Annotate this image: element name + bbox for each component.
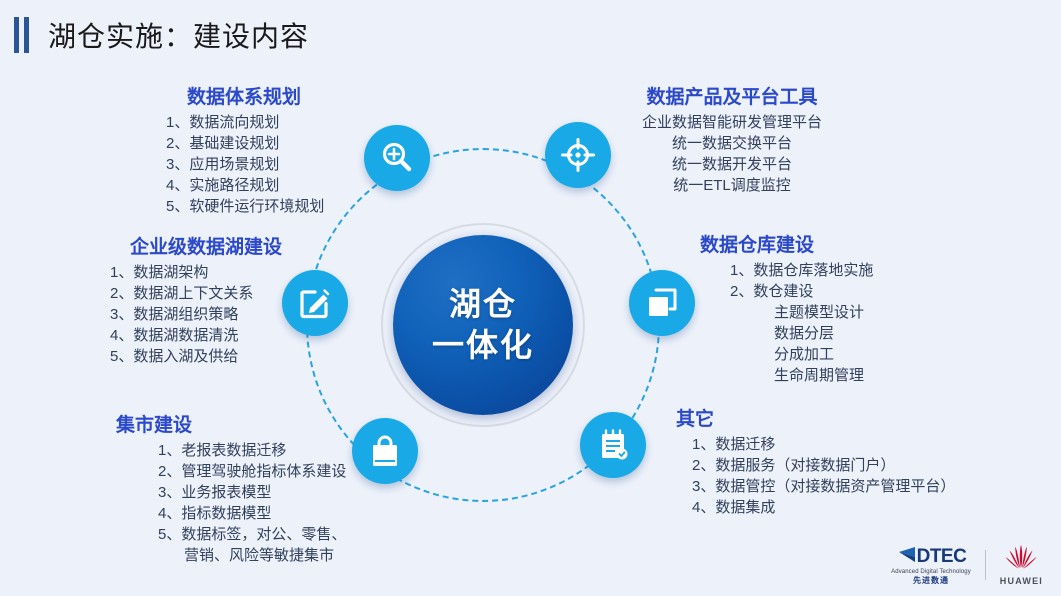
copy-duplicate-icon (645, 286, 679, 320)
list-item: 数据分层 (730, 323, 990, 344)
block-list: 1、数据迁移 2、数据服务（对接数据门户） 3、数据管控（对接数据资产管理平台）… (692, 434, 996, 518)
sub-item: 数据分层 (774, 323, 990, 344)
list-item-line2: 营销、风险等敏捷集市 (184, 545, 396, 566)
list-item: 4、实施路径规划 (166, 175, 388, 196)
list-item: 分成加工 (730, 344, 990, 365)
list-item: 5、数据入湖及供给 (110, 346, 346, 367)
core-label-line2: 一体化 (432, 325, 534, 366)
list-item: 企业数据智能研发管理平台 (600, 112, 864, 133)
list-item: 3、数据湖组织策略 (110, 304, 346, 325)
block-list: 1、数据湖架构 2、数据湖上下文关系 3、数据湖组织策略 4、数据湖数据清洗 5… (110, 262, 346, 367)
title-accent-bar-icon (14, 17, 30, 53)
list-item: 3、业务报表模型 (158, 482, 396, 503)
dtec-name: DTEC (917, 547, 967, 566)
block-list: 1、数据流向规划 2、基础建设规划 3、应用场景规划 4、实施路径规划 5、软硬… (166, 112, 388, 217)
list-item-line1: 5、数据标签，对公、零售、 (158, 526, 346, 543)
list-item: 1、数据仓库落地实施 (730, 260, 990, 281)
list-item: 2、基础建设规划 (166, 133, 388, 154)
list-item: 2、数据服务（对接数据门户） (692, 455, 996, 476)
sub-item: 生命周期管理 (774, 365, 990, 386)
list-item: 5、数据标签，对公、零售、 营销、风险等敏捷集市 (158, 524, 396, 566)
dtec-tagline: Advanced Digital Technology (891, 569, 971, 575)
list-item: 5、软硬件运行环境规划 (166, 196, 388, 217)
list-item: 2、管理驾驶舱指标体系建设 (158, 461, 396, 482)
node-bottom-right[interactable] (580, 412, 646, 478)
list-item: 主题模型设计 (730, 302, 990, 323)
block-heading: 企业级数据湖建设 (76, 232, 346, 259)
core-label-line1: 湖仓 (449, 284, 517, 325)
block-heading: 数据体系规划 (118, 82, 388, 109)
checklist-notepad-icon (596, 428, 630, 462)
list-item: 4、数据集成 (692, 497, 996, 518)
slide-canvas: 湖仓实施：建设内容 湖仓 一体化 (0, 0, 1061, 596)
block-heading: 其它 (676, 404, 996, 431)
block-enterprise-data-lake: 企业级数据湖建设 1、数据湖架构 2、数据湖上下文关系 3、数据湖组织策略 4、… (76, 232, 346, 367)
list-item: 1、老报表数据迁移 (158, 440, 396, 461)
list-item: 1、数据湖架构 (110, 262, 346, 283)
block-list: 1、老报表数据迁移 2、管理驾驶舱指标体系建设 3、业务报表模型 4、指标数据模… (158, 440, 396, 566)
huawei-logo: HUAWEI (1000, 544, 1043, 586)
crosshair-target-icon (560, 137, 596, 173)
list-item: 4、数据湖数据清洗 (110, 325, 346, 346)
list-item: 2、数据湖上下文关系 (110, 283, 346, 304)
footer-logos: DTEC Advanced Digital Technology 先进数通 (891, 544, 1043, 586)
sub-item: 分成加工 (774, 344, 990, 365)
block-data-mart: 集市建设 1、老报表数据迁移 2、管理驾驶舱指标体系建设 3、业务报表模型 4、… (116, 410, 396, 566)
list-item: 统一数据开发平台 (600, 154, 864, 175)
list-item: 3、数据管控（对接数据资产管理平台） (692, 476, 996, 497)
block-list: 1、数据仓库落地实施 2、数仓建设 主题模型设计 数据分层 分成加工 生命周期管… (730, 260, 990, 386)
list-item: 生命周期管理 (730, 365, 990, 386)
list-item: 1、数据流向规划 (166, 112, 388, 133)
dtec-wordmark: DTEC (896, 546, 967, 567)
block-others: 其它 1、数据迁移 2、数据服务（对接数据门户） 3、数据管控（对接数据资产管理… (676, 404, 996, 518)
dtec-logo: DTEC Advanced Digital Technology 先进数通 (891, 546, 971, 585)
logo-divider (985, 550, 986, 580)
core-circle: 湖仓 一体化 (393, 235, 573, 415)
dtec-arrow-icon (896, 546, 916, 567)
huawei-flower-icon (1004, 544, 1038, 574)
block-list: 企业数据智能研发管理平台 统一数据交换平台 统一数据开发平台 统一ETL调度监控 (600, 112, 864, 196)
page-title: 湖仓实施：建设内容 (0, 10, 600, 60)
huawei-name: HUAWEI (1000, 577, 1043, 586)
list-item: 1、数据迁移 (692, 434, 996, 455)
block-data-warehouse: 数据仓库建设 1、数据仓库落地实施 2、数仓建设 主题模型设计 数据分层 分成加… (700, 230, 990, 386)
title-text: 湖仓实施：建设内容 (48, 15, 309, 55)
list-item: 2、数仓建设 (730, 281, 990, 302)
block-heading: 数据仓库建设 (700, 230, 990, 257)
block-data-products-platform-tools: 数据产品及平台工具 企业数据智能研发管理平台 统一数据交换平台 统一数据开发平台… (600, 82, 864, 196)
block-data-system-planning: 数据体系规划 1、数据流向规划 2、基础建设规划 3、应用场景规划 4、实施路径… (118, 82, 388, 217)
list-item: 统一数据交换平台 (600, 133, 864, 154)
list-item: 3、应用场景规划 (166, 154, 388, 175)
list-item: 统一ETL调度监控 (600, 175, 864, 196)
sub-item: 主题模型设计 (774, 302, 990, 323)
block-heading: 数据产品及平台工具 (600, 82, 864, 109)
block-heading: 集市建设 (116, 410, 396, 437)
node-middle-right[interactable] (629, 270, 695, 336)
list-item: 4、指标数据模型 (158, 503, 396, 524)
dtec-chinese-name: 先进数通 (913, 577, 949, 585)
